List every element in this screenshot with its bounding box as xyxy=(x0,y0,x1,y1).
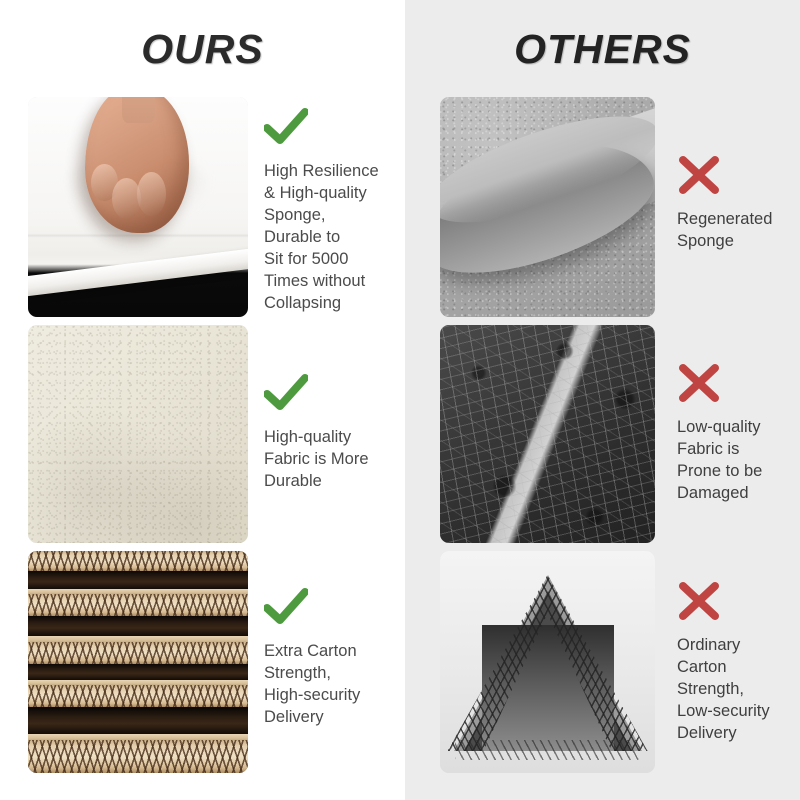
others-row-sponge: Regenerated Sponge xyxy=(440,97,785,317)
ours-column-title: OURS xyxy=(0,26,405,73)
green-check-icon xyxy=(264,373,308,413)
cream-leather-fabric-swatch-photo xyxy=(28,325,248,543)
ours-caption-fabric: High-quality Fabric is More Durable xyxy=(264,427,388,493)
ours-row-fabric-text: High-quality Fabric is More Durable xyxy=(248,325,388,493)
ours-row-carton-text: Extra Carton Strength, High-security Del… xyxy=(248,551,388,729)
others-row-sponge-text: Regenerated Sponge xyxy=(655,97,785,253)
ours-row-sponge: High Resilience & High-quality Sponge, D… xyxy=(28,97,388,317)
cracked-dark-fabric-texture-photo xyxy=(440,325,655,543)
green-check-icon xyxy=(264,587,308,627)
gray-folded-carton-tent-photo xyxy=(440,551,655,773)
ours-caption-carton: Extra Carton Strength, High-security Del… xyxy=(264,641,388,729)
others-caption-carton: Ordinary Carton Strength, Low-security D… xyxy=(677,635,785,745)
ours-row-carton: Extra Carton Strength, High-security Del… xyxy=(28,551,388,773)
comparison-infographic: OURS OTHERS High Resilience & High-qua xyxy=(0,0,800,800)
red-cross-icon xyxy=(677,363,721,403)
others-caption-fabric: Low-quality Fabric is Prone to be Damage… xyxy=(677,417,785,505)
ours-caption-sponge: High Resilience & High-quality Sponge, D… xyxy=(264,161,388,315)
gray-regenerated-sponge-sheet-photo xyxy=(440,97,655,317)
red-cross-icon xyxy=(677,581,721,621)
others-row-carton: Ordinary Carton Strength, Low-security D… xyxy=(440,551,785,773)
red-cross-icon xyxy=(677,155,721,195)
others-row-carton-text: Ordinary Carton Strength, Low-security D… xyxy=(655,551,785,745)
others-row-fabric-text: Low-quality Fabric is Prone to be Damage… xyxy=(655,325,785,505)
ours-row-sponge-text: High Resilience & High-quality Sponge, D… xyxy=(248,97,388,315)
others-caption-sponge: Regenerated Sponge xyxy=(677,209,785,253)
others-row-fabric: Low-quality Fabric is Prone to be Damage… xyxy=(440,325,785,543)
others-column-title: OTHERS xyxy=(405,26,800,73)
fist-pressing-white-foam-photo xyxy=(28,97,248,317)
green-check-icon xyxy=(264,107,308,147)
ours-row-fabric: High-quality Fabric is More Durable xyxy=(28,325,388,543)
brown-corrugated-carton-layers-photo xyxy=(28,551,248,773)
